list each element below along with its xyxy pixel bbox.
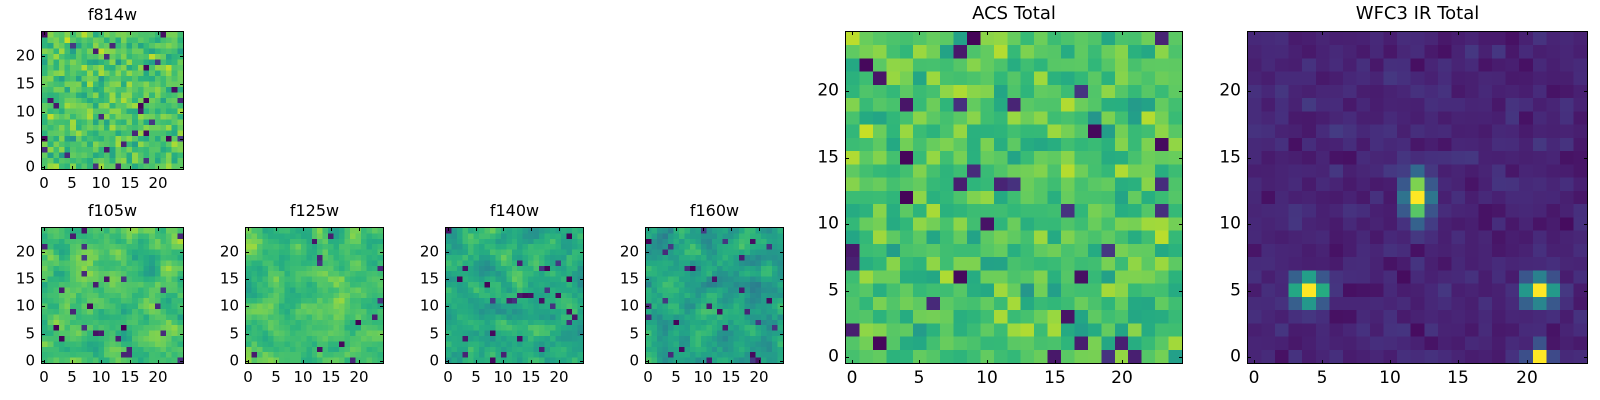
x-tick-top-wfc3-ir-total-1 (1322, 31, 1323, 35)
panel-title-wfc3-ir-total: WFC3 IR Total (1247, 5, 1588, 22)
x-tick-wfc3-ir-total-4 (1527, 360, 1528, 364)
x-ticklabel-wfc3-ir-total-1: 5 (1317, 370, 1328, 387)
y-tick-right-wfc3-ir-total-2 (1584, 224, 1588, 225)
y-tick-wfc3-ir-total-3 (1247, 158, 1251, 159)
y-tick-wfc3-ir-total-2 (1247, 224, 1251, 225)
figure-canvas: f814w0510152005101520f105w05101520051015… (0, 0, 1600, 400)
y-ticklabel-wfc3-ir-total-1: 5 (1201, 283, 1241, 300)
y-tick-right-wfc3-ir-total-1 (1584, 291, 1588, 292)
x-tick-top-wfc3-ir-total-2 (1390, 31, 1391, 35)
heatmap-wfc3-ir-total[interactable] (1247, 31, 1588, 364)
x-tick-top-wfc3-ir-total-3 (1458, 31, 1459, 35)
x-tick-wfc3-ir-total-3 (1458, 360, 1459, 364)
y-tick-wfc3-ir-total-0 (1247, 357, 1251, 358)
y-ticklabel-wfc3-ir-total-0: 0 (1201, 349, 1241, 366)
y-tick-wfc3-ir-total-1 (1247, 291, 1251, 292)
y-tick-wfc3-ir-total-4 (1247, 91, 1251, 92)
x-tick-top-wfc3-ir-total-4 (1527, 31, 1528, 35)
y-tick-right-wfc3-ir-total-4 (1584, 91, 1588, 92)
y-ticklabel-wfc3-ir-total-2: 10 (1201, 216, 1241, 233)
x-tick-wfc3-ir-total-1 (1322, 360, 1323, 364)
x-tick-wfc3-ir-total-0 (1254, 360, 1255, 364)
x-ticklabel-wfc3-ir-total-4: 20 (1516, 370, 1538, 387)
y-tick-right-wfc3-ir-total-0 (1584, 357, 1588, 358)
x-ticklabel-wfc3-ir-total-3: 15 (1447, 370, 1469, 387)
x-ticklabel-wfc3-ir-total-2: 10 (1379, 370, 1401, 387)
y-ticklabel-wfc3-ir-total-4: 20 (1201, 83, 1241, 100)
y-ticklabel-wfc3-ir-total-3: 15 (1201, 150, 1241, 167)
x-tick-wfc3-ir-total-2 (1390, 360, 1391, 364)
x-ticklabel-wfc3-ir-total-0: 0 (1249, 370, 1260, 387)
x-tick-top-wfc3-ir-total-0 (1254, 31, 1255, 35)
panel-wfc3-ir-total: WFC3 IR Total0510152005101520 (0, 0, 1600, 400)
y-tick-right-wfc3-ir-total-3 (1584, 158, 1588, 159)
heatmap-image-wfc3-ir-total (1248, 32, 1587, 363)
